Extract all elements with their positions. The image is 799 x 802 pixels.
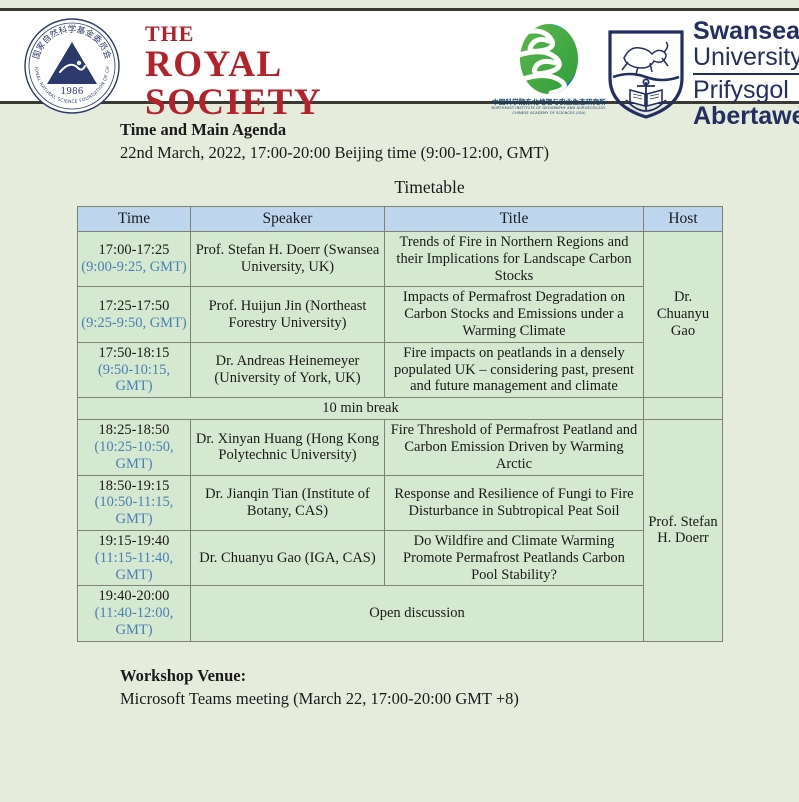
time-gmt: (11:15-11:40, GMT) [81, 550, 187, 584]
column-header-time: Time [78, 207, 191, 232]
time-gmt: (9:00-9:25, GMT) [81, 259, 187, 276]
royal-society-logo: THE ROYAL SOCIETY [145, 23, 322, 121]
table-row-break: 10 min break [78, 398, 723, 420]
swansea-university-logo: Swansea University Prifysgol Abertawe [604, 19, 799, 129]
cell-speaker: Prof. Stefan H. Doerr (Swansea Universit… [191, 231, 385, 286]
cell-speaker: Dr. Xinyan Huang (Hong Kong Polytechnic … [191, 420, 385, 475]
globe-icon [501, 23, 597, 95]
table-row-open-discussion: 19:40-20:00 (11:40-12:00, GMT) Open disc… [78, 586, 723, 641]
timetable-title: Timetable [60, 177, 799, 198]
time-local: 19:15-19:40 [81, 533, 187, 550]
nsfc-seal-icon: 国家自然科学基金委员会 NATIONAL NATURAL SCIENCE FOU… [22, 16, 122, 116]
document-body: Time and Main Agenda 22nd March, 2022, 1… [0, 120, 799, 709]
swansea-crest-icon [604, 28, 688, 120]
cell-title: Trends of Fire in Northern Regions and t… [385, 231, 644, 286]
cell-host-first: Dr. Chuanyu Gao [644, 231, 723, 397]
cell-title: Impacts of Permafrost Degradation on Car… [385, 287, 644, 342]
table-header-row: Time Speaker Title Host [78, 207, 723, 232]
cell-host-empty [644, 398, 723, 420]
cell-title: Fire impacts on peatlands in a densely p… [385, 342, 644, 397]
cell-time: 17:00-17:25 (9:00-9:25, GMT) [78, 231, 191, 286]
cell-speaker: Prof. Huijun Jin (Northeast Forestry Uni… [191, 287, 385, 342]
table-row: 19:15-19:40 (11:15-11:40, GMT) Dr. Chuan… [78, 530, 723, 585]
time-gmt: (11:40-12:00, GMT) [81, 605, 187, 639]
column-header-speaker: Speaker [191, 207, 385, 232]
iga-cas-logo: 中国科学院东北地理与农业生态研究所 NORTHEAST INSTITUTE OF… [488, 23, 610, 116]
table-row: 17:25-17:50 (9:25-9:50, GMT) Prof. Huiju… [78, 287, 723, 342]
iga-chinese-name: 中国科学院东北地理与农业生态研究所 [488, 96, 610, 106]
cell-speaker: Dr. Chuanyu Gao (IGA, CAS) [191, 530, 385, 585]
time-gmt: (9:50-10:15, GMT) [81, 362, 187, 396]
cell-title: Do Wildfire and Climate Warming Promote … [385, 530, 644, 585]
cell-time: 18:25-18:50 (10:25-10:50, GMT) [78, 420, 191, 475]
time-gmt: (9:25-9:50, GMT) [81, 315, 187, 332]
time-local: 17:00-17:25 [81, 242, 187, 259]
table-row: 17:50-18:15 (9:50-10:15, GMT) Dr. Andrea… [78, 342, 723, 397]
royal-society-line-royal: ROYAL [145, 46, 322, 83]
time-local: 18:25-18:50 [81, 422, 187, 439]
svg-text:1986: 1986 [61, 87, 84, 97]
venue-detail: Microsoft Teams meeting (March 22, 17:00… [120, 689, 799, 709]
time-gmt: (10:50-11:15, GMT) [81, 494, 187, 528]
cell-speaker: Dr. Jianqin Tian (Institute of Botany, C… [191, 475, 385, 530]
cell-open-discussion-label: Open discussion [191, 586, 644, 641]
cell-host-second: Prof. Stefan H. Doerr [644, 420, 723, 642]
time-gmt: (10:25-10:50, GMT) [81, 439, 187, 473]
cell-time: 18:50-19:15 (10:50-11:15, GMT) [78, 475, 191, 530]
time-local: 17:25-17:50 [81, 298, 187, 315]
iga-english-name-line2: CHINESE ACADEMY OF SCIENCES (IGA) [488, 111, 610, 116]
cell-speaker: Dr. Andreas Heinemeyer (University of Yo… [191, 342, 385, 397]
cell-time: 17:50-18:15 (9:50-10:15, GMT) [78, 342, 191, 397]
swansea-line-university: University [693, 45, 799, 70]
column-header-host: Host [644, 207, 723, 232]
swansea-line-prifysgol: Prifysgol [693, 78, 799, 103]
royal-society-line-society: SOCIETY [145, 84, 322, 121]
cell-title: Response and Resilience of Fungi to Fire… [385, 475, 644, 530]
agenda-date-line: 22nd March, 2022, 17:00-20:00 Beijing ti… [120, 143, 799, 163]
time-local: 19:40-20:00 [81, 588, 187, 605]
column-header-title: Title [385, 207, 644, 232]
logo-banner: 国家自然科学基金委员会 NATIONAL NATURAL SCIENCE FOU… [0, 8, 799, 104]
table-row: 18:25-18:50 (10:25-10:50, GMT) Dr. Xinya… [78, 420, 723, 475]
venue-heading: Workshop Venue: [120, 666, 799, 686]
page-top-strip [0, 0, 799, 8]
time-local: 17:50-18:15 [81, 345, 187, 362]
cell-time: 19:15-19:40 (11:15-11:40, GMT) [78, 530, 191, 585]
cell-title: Fire Threshold of Permafrost Peatland an… [385, 420, 644, 475]
swansea-line-swansea: Swansea [693, 19, 799, 44]
timetable: Time Speaker Title Host 17:00-17:25 (9:0… [77, 206, 723, 642]
time-local: 18:50-19:15 [81, 478, 187, 495]
table-row: 17:00-17:25 (9:00-9:25, GMT) Prof. Stefa… [78, 231, 723, 286]
cell-time: 19:40-20:00 (11:40-12:00, GMT) [78, 586, 191, 641]
table-row: 18:50-19:15 (10:50-11:15, GMT) Dr. Jianq… [78, 475, 723, 530]
cell-break-label: 10 min break [78, 398, 644, 420]
royal-society-line-the: THE [145, 23, 322, 45]
agenda-heading: Time and Main Agenda [120, 120, 799, 140]
cell-time: 17:25-17:50 (9:25-9:50, GMT) [78, 287, 191, 342]
swansea-divider [693, 73, 799, 75]
